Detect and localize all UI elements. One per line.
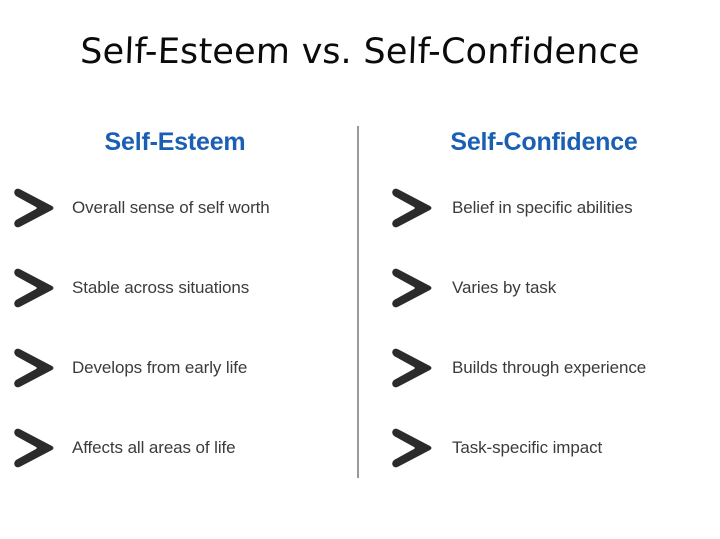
arrow-right-icon — [388, 426, 436, 470]
arrow-right-icon — [10, 426, 58, 470]
list-item-label: Affects all areas of life — [72, 438, 358, 458]
list-item: Stable across situations — [0, 260, 358, 316]
list-item-label: Stable across situations — [72, 278, 358, 298]
column-self-esteem: Self-Esteem Overall sense of self worth … — [0, 118, 358, 488]
list-item: Builds through experience — [362, 340, 720, 396]
list-item-label: Develops from early life — [72, 358, 358, 378]
list-item-label: Task-specific impact — [452, 438, 720, 458]
comparison-columns: Self-Esteem Overall sense of self worth … — [0, 118, 720, 488]
arrow-right-icon — [10, 346, 58, 390]
list-item: Affects all areas of life — [0, 420, 358, 476]
list-item-label: Varies by task — [452, 278, 720, 298]
column-self-confidence: Self-Confidence Belief in specific abili… — [362, 118, 720, 488]
arrow-right-icon — [388, 266, 436, 310]
list-item: Varies by task — [362, 260, 720, 316]
list-item-label: Belief in specific abilities — [452, 198, 720, 218]
list-item-label: Builds through experience — [452, 358, 720, 378]
list-item: Overall sense of self worth — [0, 180, 358, 236]
list-item: Belief in specific abilities — [362, 180, 720, 236]
column-header-self-esteem: Self-Esteem — [0, 128, 358, 157]
list-item-label: Overall sense of self worth — [72, 198, 358, 218]
arrow-right-icon — [10, 186, 58, 230]
list-item: Task-specific impact — [362, 420, 720, 476]
arrow-right-icon — [388, 186, 436, 230]
infographic-canvas: Self-Esteem vs. Self-Confidence Self-Est… — [0, 0, 720, 539]
arrow-right-icon — [388, 346, 436, 390]
page-title: Self-Esteem vs. Self-Confidence — [0, 32, 720, 72]
list-item: Develops from early life — [0, 340, 358, 396]
column-header-self-confidence: Self-Confidence — [362, 128, 720, 157]
arrow-right-icon — [10, 266, 58, 310]
